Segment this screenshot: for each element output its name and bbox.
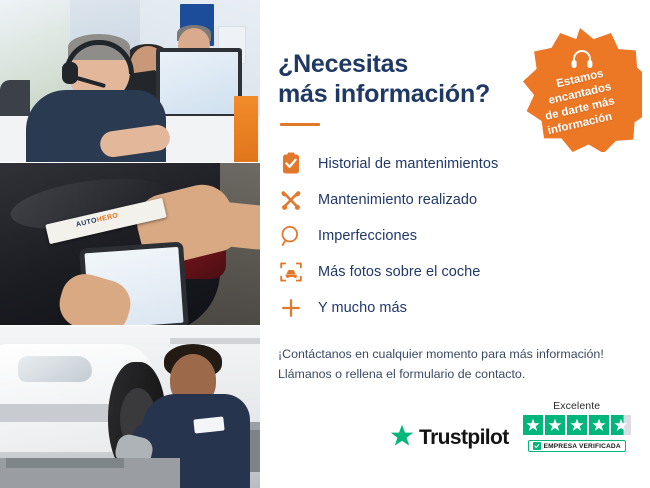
star-box-3 [567,415,587,435]
trustpilot-rating: Excelente [523,400,631,452]
ruler-brand-prefix: AUTO [75,217,97,229]
photo-inspection: AUTOHERO [0,162,260,325]
headline-line-1: ¿Necesitas [278,50,408,78]
magnifier-icon [278,223,304,249]
verified-label: EMPRESA VERIFICADA [544,443,621,450]
star-box-5-partial [611,415,631,435]
contact-line-1: ¡Contáctanos en cualquier momento para m… [278,347,604,361]
car-lift-platform [0,458,180,488]
star-box-4 [589,415,609,435]
feature-label: Imperfecciones [318,228,417,244]
star-rating [523,415,631,435]
rating-label: Excelente [553,400,600,412]
feature-item-mucho-mas: Y mucho más [278,292,626,324]
verified-company-badge: EMPRESA VERIFICADA [528,440,626,452]
content-area: ¿Necesitas más información? Historial de… [260,0,650,488]
car-grille [0,404,116,422]
trustpilot-widget[interactable]: Trustpilot Excelente [390,400,631,452]
feature-list: Historial de mantenimientos M [278,148,626,324]
trustpilot-logo[interactable]: Trustpilot [390,424,509,452]
promo-badge: Estamos encantados de darte más informac… [518,28,642,152]
clipboard-check-icon [278,151,304,177]
contact-line-2: Llámanos o rellena el formulario de cont… [278,367,525,381]
trustpilot-star-icon [390,424,414,452]
feature-item-fotos: Más fotos sobre el coche [278,256,626,288]
headset-icon [570,48,594,70]
title-divider [280,123,320,126]
trustpilot-brand-name: Trustpilot [419,426,509,450]
feature-item-mantenimiento: Mantenimiento realizado [278,184,626,216]
person-main-agent [26,36,166,162]
desktop-monitor [156,48,242,118]
orange-accent-object [234,96,258,162]
feature-label: Más fotos sobre el coche [318,264,480,280]
car-headlight [18,356,92,382]
feature-item-imperfecciones: Imperfecciones [278,220,626,252]
feature-label: Mantenimiento realizado [318,192,477,208]
crossed-tools-icon [278,187,304,213]
info-banner: AUTOHERO ¿Necesitas más información? [0,0,650,488]
plus-icon [278,295,304,321]
verified-check-icon [533,442,541,450]
headline-line-2: más información? [278,80,490,108]
ruler-brand-suffix: HERO [96,212,119,224]
contact-text: ¡Contáctanos en cualquier momento para m… [278,344,626,384]
star-box-2 [545,415,565,435]
photo-wheel-inspection [0,325,260,488]
feature-label: Historial de mantenimientos [318,156,498,172]
photo-strip: AUTOHERO [0,0,260,488]
star-box-1 [523,415,543,435]
feature-label: Y mucho más [318,300,407,316]
photo-call-center [0,0,260,162]
feature-item-historial: Historial de mantenimientos [278,148,626,180]
car-focus-icon [278,259,304,285]
